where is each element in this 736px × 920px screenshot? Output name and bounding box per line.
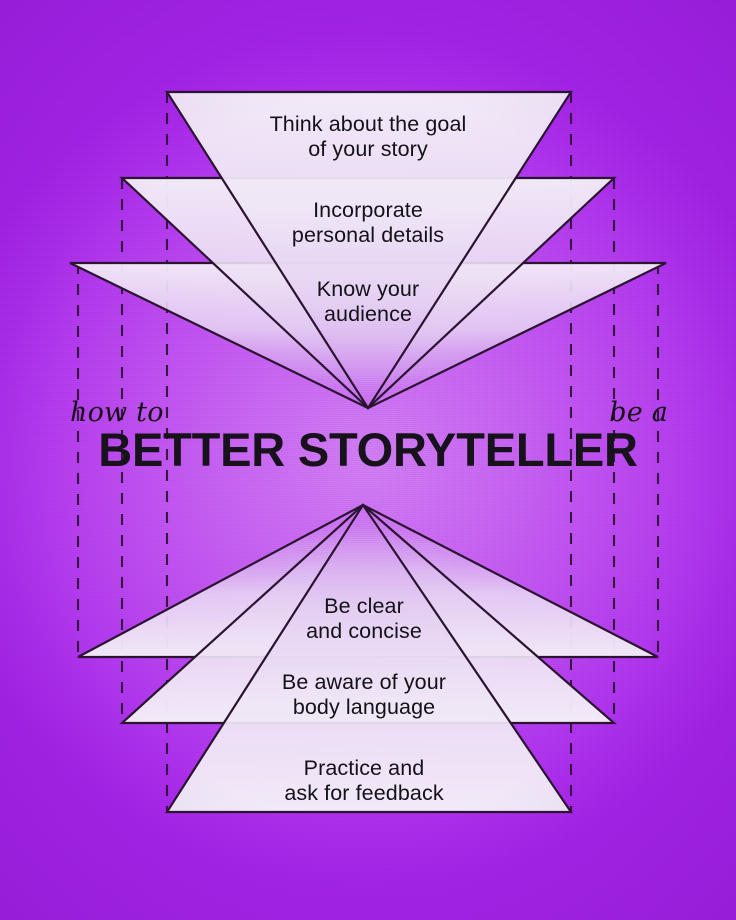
upper-triangle-group xyxy=(70,92,666,408)
poster-canvas: Think about the goal of your story Incor… xyxy=(0,0,736,920)
title-script-right: be a xyxy=(609,397,668,428)
title-block: how to be a BETTER STORYTELLER xyxy=(0,392,736,473)
title-script-row: how to be a xyxy=(68,392,668,428)
page-title: BETTER STORYTELLER xyxy=(0,426,736,473)
title-script-left: how to xyxy=(70,397,164,428)
